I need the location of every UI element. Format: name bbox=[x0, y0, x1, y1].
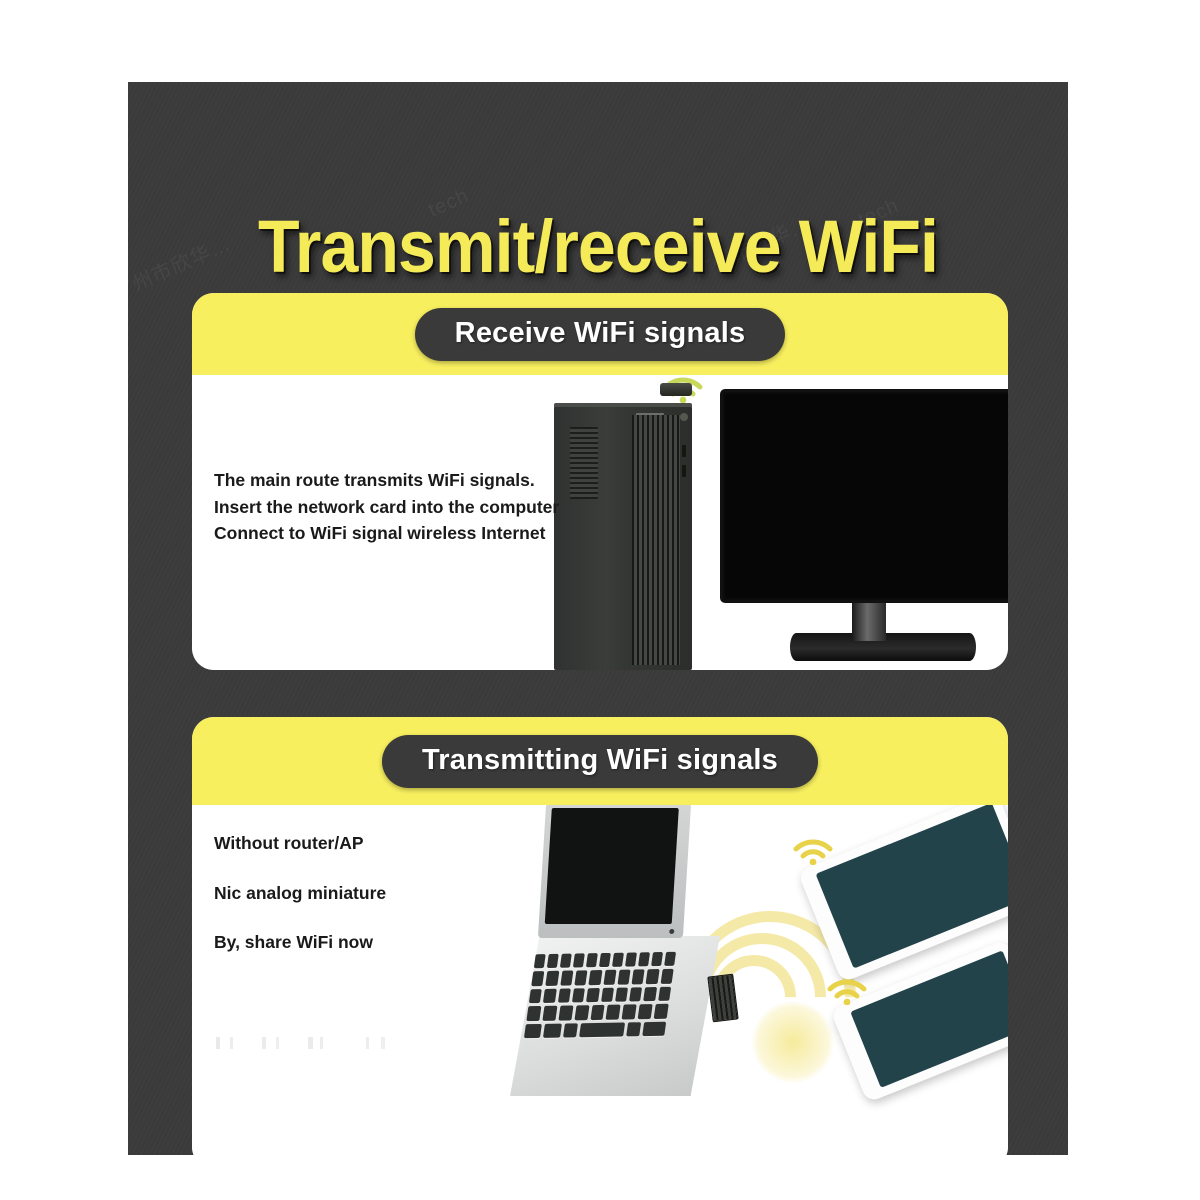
power-button-icon[interactable] bbox=[680, 413, 688, 421]
usb-wifi-adapter bbox=[660, 383, 692, 396]
smartphone-screen bbox=[850, 950, 1008, 1087]
receive-line-1: The main route transmits WiFi signals. bbox=[214, 467, 574, 494]
receive-line-2: Insert the network card into the compute… bbox=[214, 494, 574, 521]
page-title: Transmit/receive WiFi bbox=[166, 210, 1031, 284]
receive-line-3: Connect to WiFi signal wireless Internet bbox=[214, 520, 574, 547]
card-transmit: Transmitting WiFi signals bbox=[192, 717, 1008, 1155]
transmit-line-2: Nic analog miniature bbox=[214, 885, 544, 903]
card-receive-badge: Receive WiFi signals bbox=[415, 308, 786, 361]
monitor-screen bbox=[725, 394, 1008, 598]
card-transmit-badge: Transmitting WiFi signals bbox=[382, 735, 818, 788]
card-receive-text: The main route transmits WiFi signals. I… bbox=[214, 467, 574, 547]
monitor bbox=[720, 389, 1008, 603]
tower-vent bbox=[570, 427, 598, 499]
laptop-keyboard[interactable] bbox=[524, 952, 676, 1038]
desktop-tower bbox=[554, 407, 692, 670]
monitor-stand bbox=[852, 603, 886, 641]
signal-glow bbox=[752, 1001, 834, 1083]
wifi-signal-icon bbox=[790, 825, 836, 865]
usb-wifi-adapter bbox=[707, 974, 738, 1023]
infographic-page: 广州市欣华… tech 广州市欣华… tech 广州市欣华… tech 广州市欣… bbox=[0, 0, 1200, 1200]
laptop bbox=[538, 805, 691, 938]
tower-grill bbox=[632, 415, 680, 665]
laptop-screen bbox=[545, 808, 679, 924]
card-receive-header: Receive WiFi signals bbox=[192, 293, 1008, 375]
tablet-screen bbox=[816, 805, 1008, 969]
dark-panel: 广州市欣华… tech 广州市欣华… tech 广州市欣华… tech 广州市欣… bbox=[128, 82, 1068, 1155]
tower-port bbox=[682, 465, 686, 477]
card-receive-body: The main route transmits WiFi signals. I… bbox=[192, 375, 1008, 670]
camera-icon bbox=[669, 929, 674, 934]
card-transmit-header: Transmitting WiFi signals bbox=[192, 717, 1008, 805]
tower-port bbox=[682, 445, 686, 457]
wifi-signal-icon bbox=[824, 965, 870, 1005]
card-receive: Receive WiFi signals bbox=[192, 293, 1008, 670]
faint-artifact-row bbox=[216, 1037, 426, 1049]
transmit-line-1: Without router/AP bbox=[214, 835, 544, 853]
transmit-line-3: By, share WiFi now bbox=[214, 934, 544, 952]
card-transmit-text: Without router/AP Nic analog miniature B… bbox=[214, 835, 544, 984]
card-transmit-body: Without router/AP Nic analog miniature B… bbox=[192, 805, 1008, 1155]
